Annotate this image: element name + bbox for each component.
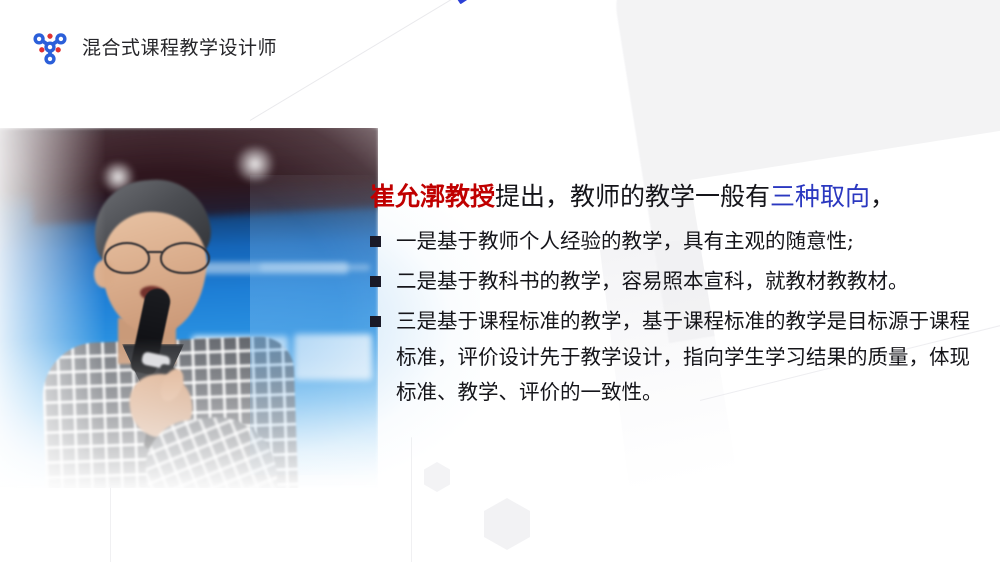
- square-bullet-icon: [370, 316, 381, 327]
- list-item: 三是基于课程标准的教学，基于课程标准的教学是目标源于课程标准，评价设计先于教学设…: [370, 304, 970, 410]
- lead-segment-end: ，: [870, 182, 895, 211]
- hexagon-small: [424, 462, 450, 492]
- content-body: 崔允漷教授提出，教师的教学一般有三种取向， 一是基于教师个人经验的教学，具有主观…: [370, 180, 970, 415]
- lead-segment-keyword: 三种取向: [770, 182, 870, 211]
- brand-title: 混合式课程教学设计师: [82, 39, 277, 58]
- photo-edge-fade-bottom: [0, 338, 378, 488]
- list-item-text: 三是基于课程标准的教学，基于课程标准的教学是目标源于课程标准，评价设计先于教学设…: [396, 309, 970, 404]
- list-item-text: 二是基于教科书的教学，容易照本宣科，就教材教教材。: [396, 269, 909, 293]
- glasses-icon: [104, 242, 210, 272]
- slide-canvas: 混合式课程教学设计师: [0, 0, 1000, 562]
- hexagon-bottom-center: [484, 498, 530, 550]
- blue-diagonal-dash: [456, 0, 501, 4]
- square-bullet-icon: [370, 276, 381, 287]
- lead-statement: 崔允漷教授提出，教师的教学一般有三种取向，: [370, 180, 970, 214]
- lead-segment-name: 崔允漷教授: [370, 182, 495, 211]
- list-item: 一是基于教师个人经验的教学，具有主观的随意性;: [370, 224, 970, 259]
- brand-header: 混合式课程教学设计师: [30, 28, 277, 68]
- bullet-list: 一是基于教师个人经验的教学，具有主观的随意性; 二是基于教科书的教学，容易照本宣…: [370, 224, 970, 410]
- square-bullet-icon: [370, 236, 381, 247]
- hairline-diagonal: [250, 0, 525, 121]
- speaker-photo: [0, 128, 378, 488]
- list-item: 二是基于教科书的教学，容易照本宣科，就教材教教材。: [370, 264, 970, 299]
- list-item-text: 一是基于教师个人经验的教学，具有主观的随意性;: [396, 229, 854, 253]
- molecule-network-icon: [30, 28, 70, 68]
- lead-segment-middle: 提出，教师的教学一般有: [495, 182, 770, 211]
